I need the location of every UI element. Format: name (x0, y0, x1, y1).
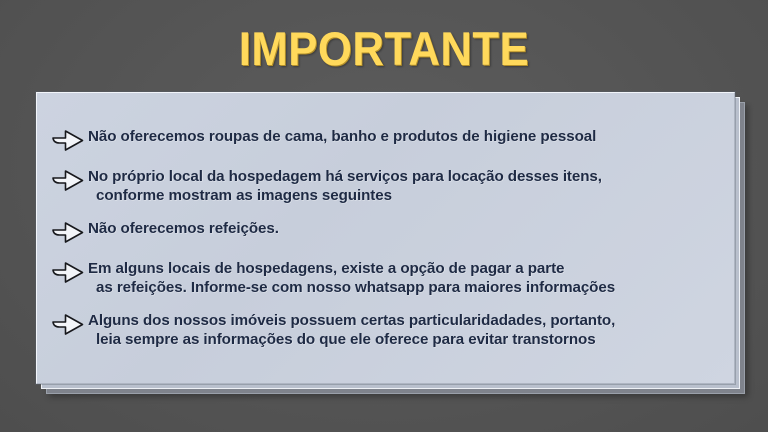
list-item-line2: as refeições. Informe-se com nosso whats… (96, 278, 615, 297)
list-item-text: No próprio local da hospedagem há serviç… (88, 167, 602, 205)
list-item-text: Não oferecemos roupas de cama, banho e p… (88, 127, 596, 147)
list-item-line2: leia sempre as informações do que ele of… (96, 330, 615, 349)
right-arrow-icon (51, 312, 85, 337)
list-item-line1: Não oferecemos roupas de cama, banho e p… (88, 128, 596, 145)
right-arrow-icon (51, 260, 85, 285)
bullet-list: Não oferecemos roupas de cama, banho e p… (51, 127, 726, 349)
list-item-line1: No próprio local da hospedagem há serviç… (88, 168, 602, 185)
right-arrow-icon (51, 128, 85, 153)
list-item-line1: Alguns dos nossos imóveis possuem certas… (88, 312, 615, 329)
list-item: Não oferecemos refeições. (51, 219, 726, 245)
right-arrow-icon (51, 168, 85, 193)
list-item-line1: Em alguns locais de hospedagens, existe … (88, 260, 564, 277)
list-item: Em alguns locais de hospedagens, existe … (51, 259, 726, 297)
list-item-line2: conforme mostram as imagens seguintes (96, 186, 602, 205)
list-item-text: Não oferecemos refeições. (88, 219, 279, 239)
slide-canvas: IMPORTANTE Não oferecemos roupas de cama… (0, 0, 768, 432)
list-item: No próprio local da hospedagem há serviç… (51, 167, 726, 205)
list-item-text: Alguns dos nossos imóveis possuem certas… (88, 311, 615, 349)
list-item: Não oferecemos roupas de cama, banho e p… (51, 127, 726, 153)
content-panel: Não oferecemos roupas de cama, banho e p… (36, 92, 735, 384)
right-arrow-icon (51, 220, 85, 245)
content-panel-stack: Não oferecemos roupas de cama, banho e p… (36, 92, 735, 384)
list-item-line1: Não oferecemos refeições. (88, 220, 279, 237)
page-title: IMPORTANTE (27, 22, 741, 76)
list-item-text: Em alguns locais de hospedagens, existe … (88, 259, 615, 297)
list-item: Alguns dos nossos imóveis possuem certas… (51, 311, 726, 349)
